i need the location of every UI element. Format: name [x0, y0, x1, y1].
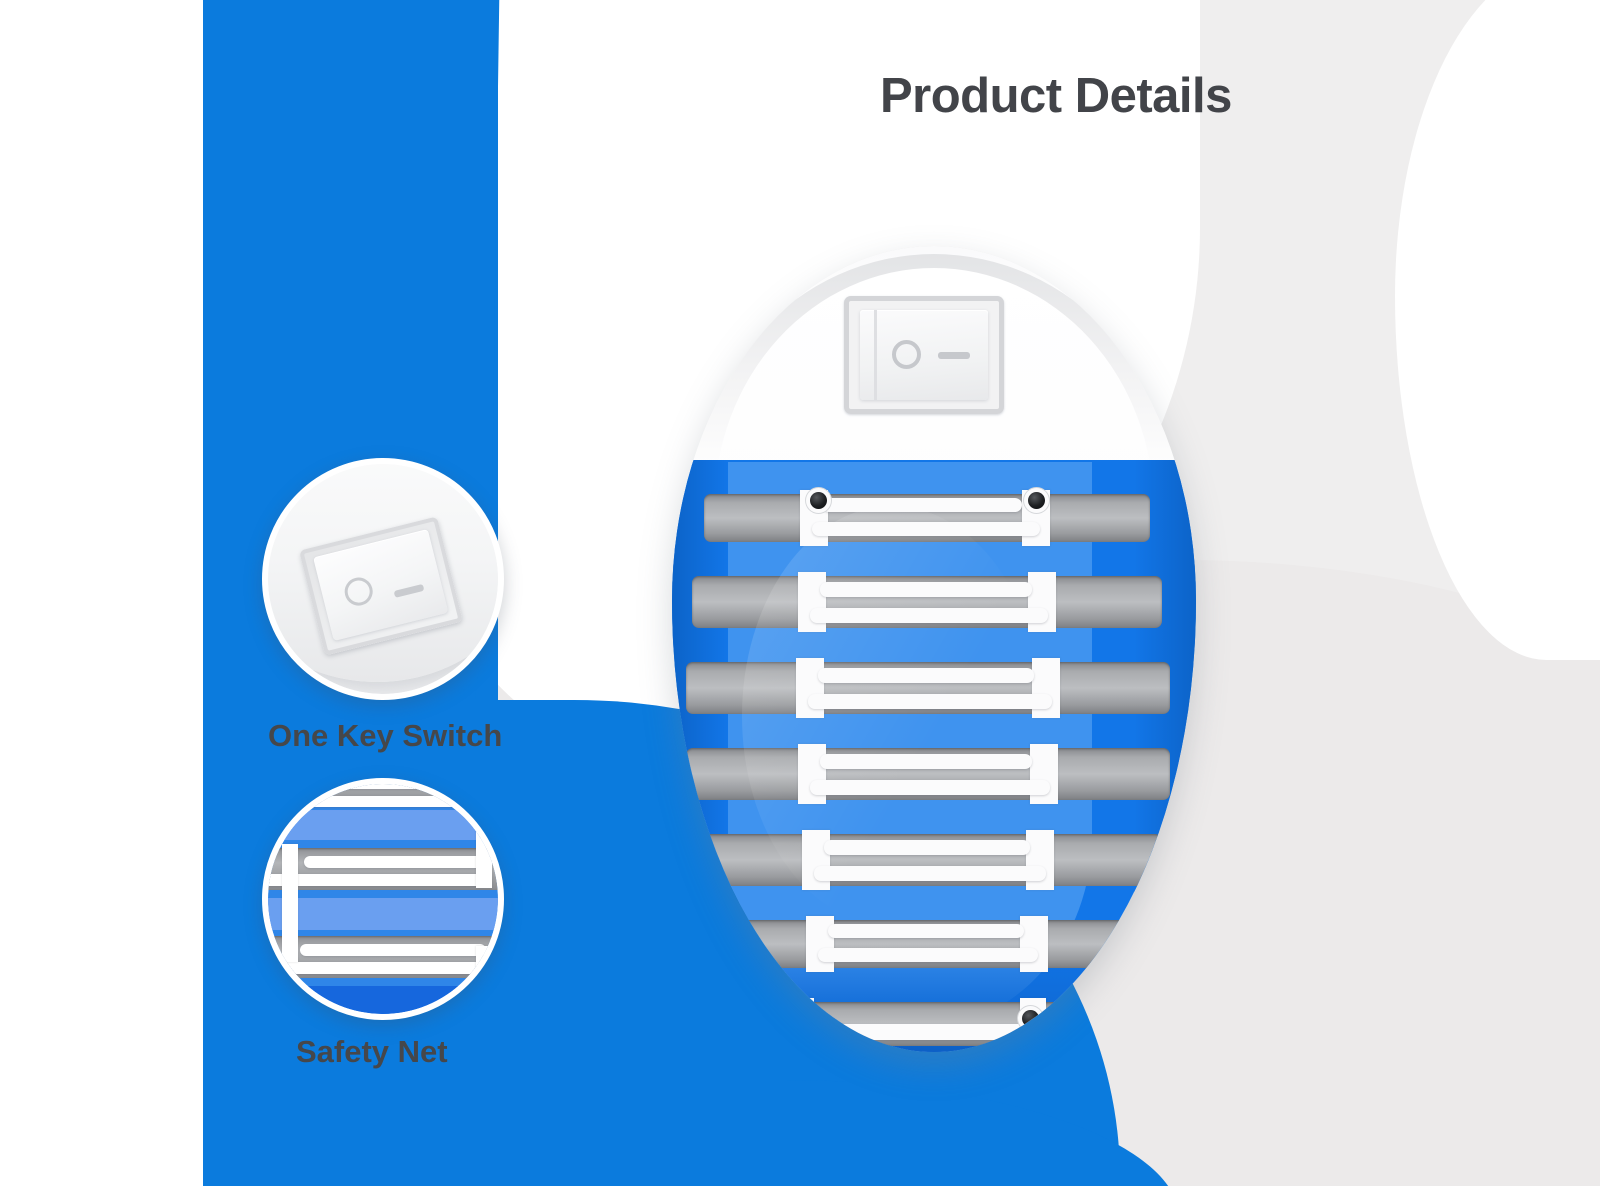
safety-net-rail	[1026, 830, 1054, 890]
product-image	[672, 246, 1196, 1052]
grille-screw	[792, 1010, 809, 1027]
callout-label-safety-net: Safety Net	[296, 1034, 448, 1070]
safety-net-trace	[300, 944, 486, 956]
safety-net-rail	[1028, 572, 1056, 632]
safety-net-trace	[810, 1024, 1026, 1040]
safety-net-rail	[282, 844, 298, 962]
grille-screw	[810, 492, 827, 509]
product-gloss-highlight	[742, 506, 1042, 926]
safety-net-trace	[268, 796, 486, 807]
product-detail-canvas: Product Details One Key Switch	[0, 0, 1600, 1186]
safety-net-rail	[1020, 916, 1048, 972]
page-title: Product Details	[880, 68, 1232, 124]
callout-one-key-switch	[262, 458, 504, 700]
safety-net-rail	[806, 916, 834, 972]
grille-screw	[1022, 1010, 1039, 1027]
product-rocker-switch[interactable]	[844, 296, 1004, 414]
callout-switch-image	[268, 464, 498, 694]
safety-net-trace	[818, 948, 1038, 962]
safety-net-rail	[476, 792, 492, 888]
safety-net-trace	[304, 856, 484, 868]
safety-net-trace	[268, 962, 488, 974]
grille-band	[268, 898, 498, 930]
grille-row	[672, 916, 1196, 974]
power-off-circle-icon	[892, 340, 921, 369]
callout-safety-net	[262, 778, 504, 1020]
power-on-dash-icon	[394, 584, 425, 598]
safety-net-rail	[476, 946, 492, 1014]
callout-label-one-key-switch: One Key Switch	[268, 718, 502, 754]
power-on-dash-icon	[938, 352, 970, 359]
callout-net-image	[268, 784, 498, 1014]
safety-net-trace	[828, 924, 1024, 938]
grille-row	[672, 998, 1196, 1052]
grille-band	[268, 810, 498, 840]
grille-band	[268, 986, 498, 1014]
safety-net-trace	[294, 784, 484, 789]
grille-zoomed	[268, 784, 498, 1014]
switch-divider	[874, 310, 877, 400]
safety-net-trace	[268, 874, 488, 886]
power-off-circle-icon	[342, 575, 376, 609]
grille-screw	[1028, 492, 1045, 509]
product-shell	[672, 246, 1196, 1052]
